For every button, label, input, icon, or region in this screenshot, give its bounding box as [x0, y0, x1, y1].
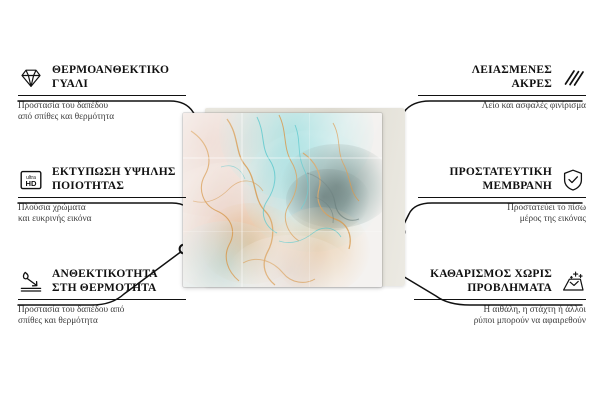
ultra-hd-icon: ultra HD: [18, 167, 44, 193]
glass-sheen: [183, 113, 382, 287]
feature-description: Προστασία του δαπέδου από σπίθες και θερ…: [18, 100, 186, 123]
glass-panel: [183, 113, 382, 287]
feature-head: ΠΡΟΣΤΑΤΕΥΤΙΚΗ ΜΕΜΒΡΑΝΗ: [418, 166, 586, 193]
feature-head: ultra HD ΕΚΤΥΠΩΣΗ ΥΨΗΛΗΣ ΠΟΙΟΤΗΤΑΣ: [18, 166, 186, 193]
feature-title: ΚΑΘΑΡΙΣΜΟΣ ΧΩΡΙΣ ΠΡΟΒΛΗΜΑΤΑ: [430, 268, 552, 295]
feature-heat-resistance: ΑΝΘΕΚΤΙΚΟΤΗΤΑ ΣΤΗ ΘΕΡΜΟΤΗΤΑ Προστασία το…: [18, 268, 186, 327]
feature-description: Η αιθάλη, η στάχτη ή άλλοι ρύποι μπορούν…: [414, 304, 586, 327]
infographic-canvas: ΘΕΡΜΟΑΝΘΕΚΤΙΚΟ ΓΥΑΛΙ Προστασία του δαπέδ…: [0, 0, 600, 400]
feature-description: Λείο και ασφαλές φινίρισμα: [418, 100, 586, 111]
feature-head: ΑΝΘΕΚΤΙΚΟΤΗΤΑ ΣΤΗ ΘΕΡΜΟΤΗΤΑ: [18, 268, 186, 295]
feature-description: Προστασία του δαπέδου από σπίθες και θερ…: [18, 304, 186, 327]
feature-title: ΛΕΙΑΣΜΕΝΕΣ ΑΚΡΕΣ: [472, 64, 552, 91]
divider: [418, 95, 586, 96]
divider: [18, 95, 186, 96]
diamond-icon: [18, 65, 44, 91]
feature-description: Προστατεύει το πίσω μέρος της εικόνας: [418, 202, 586, 225]
divider: [18, 197, 186, 198]
shield-check-icon: [560, 167, 586, 193]
flame-heat-resistance-icon: [18, 269, 44, 295]
svg-text:HD: HD: [26, 179, 37, 188]
feature-easy-cleaning: ΚΑΘΑΡΙΣΜΟΣ ΧΩΡΙΣ ΠΡΟΒΛΗΜΑΤΑ Η αιθάλη, η …: [414, 268, 586, 327]
feature-title: ΕΚΤΥΠΩΣΗ ΥΨΗΛΗΣ ΠΟΙΟΤΗΤΑΣ: [52, 166, 176, 193]
divider: [414, 299, 586, 300]
divider: [418, 197, 586, 198]
product-image: [183, 113, 396, 287]
feature-protective-membrane: ΠΡΟΣΤΑΤΕΥΤΙΚΗ ΜΕΜΒΡΑΝΗ Προστατεύει το πί…: [418, 166, 586, 225]
feature-title: ΑΝΘΕΚΤΙΚΟΤΗΤΑ ΣΤΗ ΘΕΡΜΟΤΗΤΑ: [52, 268, 158, 295]
polished-edges-icon: [560, 65, 586, 91]
sparkle-clean-icon: [560, 269, 586, 295]
feature-polished-edges: ΛΕΙΑΣΜΕΝΕΣ ΑΚΡΕΣ Λείο και ασφαλές φινίρι…: [418, 64, 586, 111]
feature-title: ΘΕΡΜΟΑΝΘΕΚΤΙΚΟ ΓΥΑΛΙ: [52, 64, 169, 91]
feature-head: ΚΑΘΑΡΙΣΜΟΣ ΧΩΡΙΣ ΠΡΟΒΛΗΜΑΤΑ: [414, 268, 586, 295]
feature-title: ΠΡΟΣΤΑΤΕΥΤΙΚΗ ΜΕΜΒΡΑΝΗ: [450, 166, 552, 193]
feature-head: ΘΕΡΜΟΑΝΘΕΚΤΙΚΟ ΓΥΑΛΙ: [18, 64, 186, 91]
feature-description: Πλούσια χρώματα και ευκρινής εικόνα: [18, 202, 186, 225]
feature-high-quality-print: ultra HD ΕΚΤΥΠΩΣΗ ΥΨΗΛΗΣ ΠΟΙΟΤΗΤΑΣ Πλούσ…: [18, 166, 186, 225]
feature-heat-resistant-glass: ΘΕΡΜΟΑΝΘΕΚΤΙΚΟ ΓΥΑΛΙ Προστασία του δαπέδ…: [18, 64, 186, 123]
feature-head: ΛΕΙΑΣΜΕΝΕΣ ΑΚΡΕΣ: [418, 64, 586, 91]
divider: [18, 299, 186, 300]
